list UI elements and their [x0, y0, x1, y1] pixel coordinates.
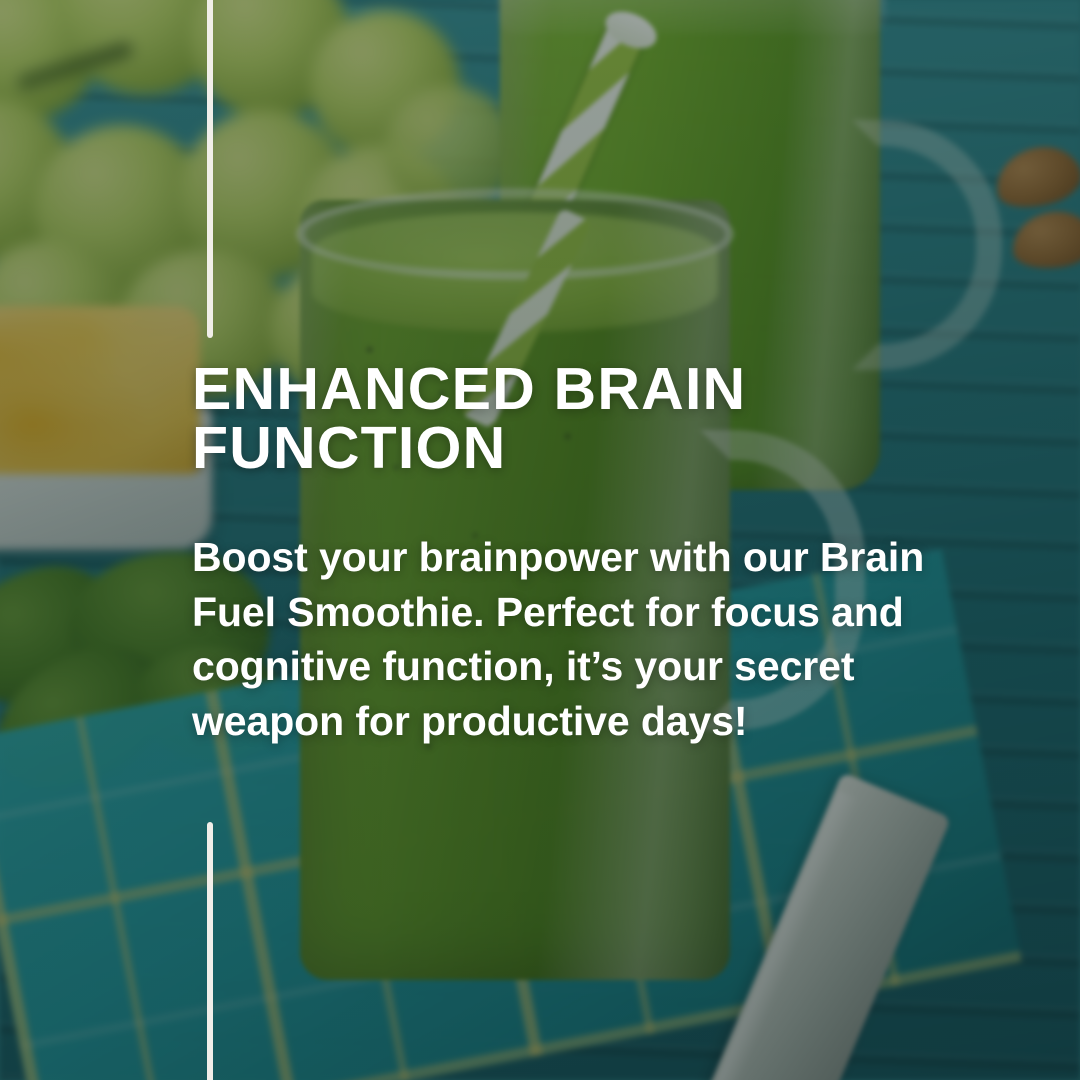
text-content: Enhanced Brain Function Boost your brain…	[192, 360, 982, 748]
body-paragraph: Boost your brainpower with our Brain Fue…	[192, 530, 962, 748]
accent-line-top	[207, 0, 213, 338]
promo-poster: Enhanced Brain Function Boost your brain…	[0, 0, 1080, 1080]
page-title: Enhanced Brain Function	[192, 360, 982, 478]
accent-line-bottom	[207, 822, 213, 1080]
